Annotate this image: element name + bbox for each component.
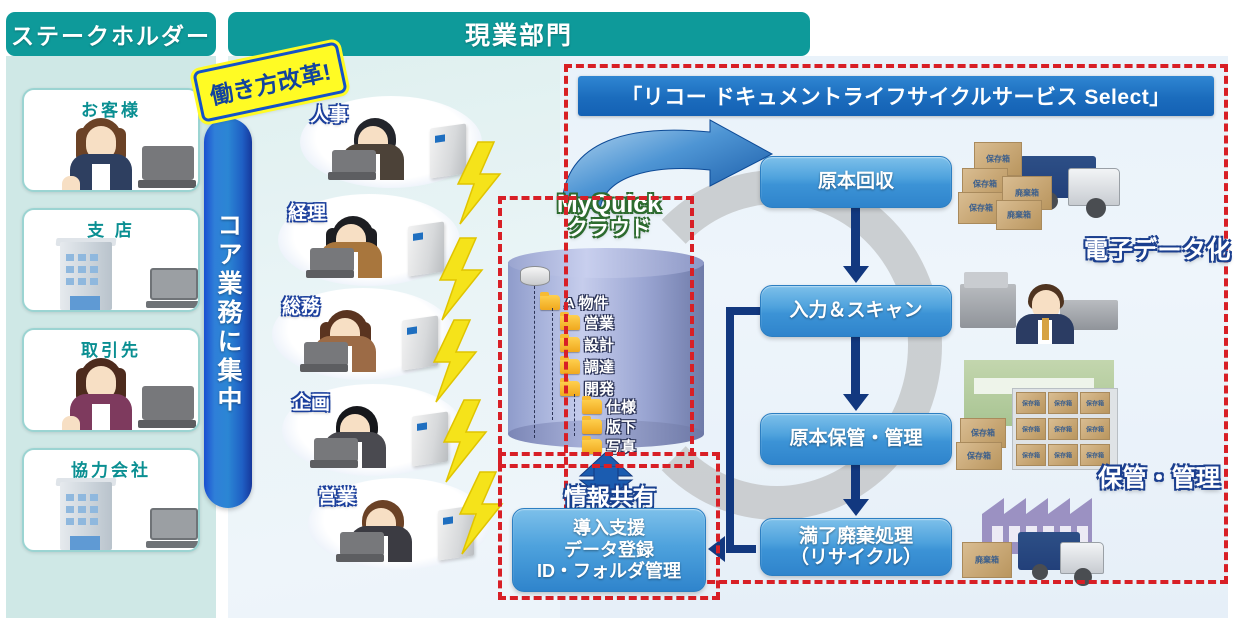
service-title-label: 「リコー ドキュメントライフサイクルサービス Select」 bbox=[621, 81, 1171, 111]
department-label: 人事 bbox=[310, 100, 348, 127]
core-business-focus-bar: コア業務に集中 bbox=[204, 118, 252, 508]
folder-tree: A 物件 営業 設計 調達 開発 仕様 bbox=[518, 266, 704, 442]
lightning-bolt-icon bbox=[430, 236, 490, 322]
myquick-brand-line2: クラウド bbox=[524, 218, 694, 240]
side-label-storage-management: 保管・管理 bbox=[1098, 458, 1221, 493]
box-label: 廃棄箱 bbox=[1015, 188, 1039, 199]
stakeholder-card-customer[interactable]: お客様 bbox=[22, 88, 200, 192]
stakeholder-card-label: お客様 bbox=[24, 96, 198, 121]
lightning-bolt-icon bbox=[448, 140, 508, 226]
process-step-storage[interactable]: 原本保管・管理 bbox=[760, 413, 952, 465]
person-icon bbox=[306, 216, 390, 278]
box-label: 保存箱 bbox=[1054, 425, 1072, 434]
folder-icon bbox=[560, 359, 580, 374]
process-step-label: 原本回収 bbox=[818, 171, 894, 192]
box-label: 保存箱 bbox=[1054, 451, 1072, 460]
stakeholder-header-label: ステークホルダー bbox=[11, 17, 211, 51]
box-label: 保存箱 bbox=[986, 154, 1010, 165]
laptop-icon bbox=[138, 146, 196, 188]
box-label: 保存箱 bbox=[1086, 425, 1104, 434]
info-share-title: 情報共有 bbox=[528, 478, 692, 512]
box-label: 保存箱 bbox=[1022, 451, 1040, 460]
building-icon bbox=[54, 238, 124, 310]
field-department-header-label: 現業部門 bbox=[465, 16, 573, 52]
info-share-title-label: 情報共有 bbox=[564, 484, 656, 510]
process-step-disposal[interactable]: 満了廃棄処理 （リサイクル） bbox=[760, 518, 952, 576]
side-label-digitization-text: 電子データ化 bbox=[1084, 237, 1231, 264]
process-step-scan[interactable]: 入力＆スキャン bbox=[760, 285, 952, 337]
lightning-bolt-icon bbox=[424, 318, 484, 404]
folder-icon bbox=[582, 419, 602, 434]
truck-collection-illustration: 保存箱 保存箱 保存箱 廃棄箱 廃棄箱 bbox=[956, 134, 1128, 238]
core-business-focus-label: コア業務に集中 bbox=[210, 212, 246, 415]
folder-label: 設計 bbox=[584, 334, 614, 355]
info-share-item: ID・フォルダ管理 bbox=[537, 561, 681, 582]
folder-icon bbox=[560, 381, 580, 396]
stakeholder-card-client[interactable]: 取引先 bbox=[22, 328, 200, 432]
stakeholder-card-label: 取引先 bbox=[24, 336, 198, 361]
box-label: 保存箱 bbox=[967, 451, 991, 462]
stakeholder-card-label: 支 店 bbox=[24, 216, 198, 241]
box-label: 保存箱 bbox=[969, 203, 993, 214]
box-label: 保存箱 bbox=[1054, 399, 1072, 408]
process-step-label: 原本保管・管理 bbox=[789, 428, 922, 449]
department-label: 企画 bbox=[292, 388, 330, 415]
box-label: 保存箱 bbox=[1022, 425, 1040, 434]
person-icon bbox=[336, 500, 420, 562]
person-icon bbox=[58, 356, 144, 430]
folder-label: A 物件 bbox=[564, 292, 608, 313]
diagram-canvas: ステークホルダー 現業部門 お客様 支 店 bbox=[0, 0, 1236, 624]
box-label: 廃棄箱 bbox=[1007, 210, 1031, 221]
folder-icon bbox=[560, 337, 580, 352]
person-icon bbox=[300, 310, 384, 372]
box-label: 保存箱 bbox=[973, 179, 997, 190]
department-label: 経理 bbox=[288, 198, 326, 225]
process-step-collect[interactable]: 原本回収 bbox=[760, 156, 952, 208]
info-share-item: 導入支援 bbox=[573, 518, 645, 539]
folder-label: 営業 bbox=[584, 312, 614, 333]
database-icon bbox=[520, 266, 550, 286]
process-step-label: 満了廃棄処理 bbox=[799, 526, 913, 547]
folder-label: 仕様 bbox=[606, 396, 636, 417]
laptop-icon bbox=[146, 508, 200, 548]
folder-label: 調達 bbox=[584, 356, 614, 377]
building-icon bbox=[54, 478, 124, 550]
stakeholder-header-banner: ステークホルダー bbox=[6, 12, 216, 56]
myquick-brand-title: MyQuick クラウド bbox=[524, 192, 694, 240]
department-label: 営業 bbox=[318, 482, 356, 509]
cloud-database-cylinder: A 物件 営業 設計 調達 開発 仕様 bbox=[508, 248, 704, 448]
folder-icon bbox=[540, 295, 560, 310]
laptop-icon bbox=[146, 268, 200, 308]
folder-label: 版下 bbox=[606, 416, 636, 437]
process-step-label: 入力＆スキャン bbox=[789, 300, 922, 321]
side-label-storage-text: 保管・管理 bbox=[1098, 465, 1221, 492]
person-icon bbox=[310, 406, 394, 468]
info-share-item: データ登録 bbox=[564, 540, 654, 561]
lightning-bolt-icon bbox=[450, 470, 510, 556]
box-label: 廃棄箱 bbox=[975, 555, 999, 566]
service-title-bar: 「リコー ドキュメントライフサイクルサービス Select」 bbox=[578, 76, 1214, 116]
box-label: 保存箱 bbox=[971, 428, 995, 439]
folder-icon bbox=[582, 399, 602, 414]
laptop-icon bbox=[138, 386, 196, 428]
info-share-box[interactable]: 導入支援 データ登録 ID・フォルダ管理 bbox=[512, 508, 706, 592]
warehouse-storage-illustration: 保存箱 保存箱 保存箱 保存箱 保存箱 保存箱 保存箱 保存箱 保存箱 保存箱 … bbox=[956, 360, 1128, 472]
folder-icon bbox=[560, 315, 580, 330]
stakeholder-card-label: 協力会社 bbox=[24, 456, 198, 481]
side-label-digitization: 電子データ化 bbox=[1084, 230, 1231, 265]
box-label: 保存箱 bbox=[1086, 399, 1104, 408]
box-label: 保存箱 bbox=[1022, 399, 1040, 408]
myquick-brand-line1: MyQuick bbox=[524, 192, 694, 218]
stakeholder-card-partner[interactable]: 協力会社 bbox=[22, 448, 200, 552]
recycling-factory-illustration: 廃棄箱 bbox=[956, 492, 1128, 592]
person-icon bbox=[58, 116, 144, 190]
stakeholder-card-branch[interactable]: 支 店 bbox=[22, 208, 200, 312]
department-label: 総務 bbox=[282, 292, 320, 319]
scanner-operator-illustration bbox=[960, 258, 1120, 344]
process-step-sublabel: （リサイクル） bbox=[790, 547, 922, 568]
person-icon bbox=[328, 118, 412, 180]
